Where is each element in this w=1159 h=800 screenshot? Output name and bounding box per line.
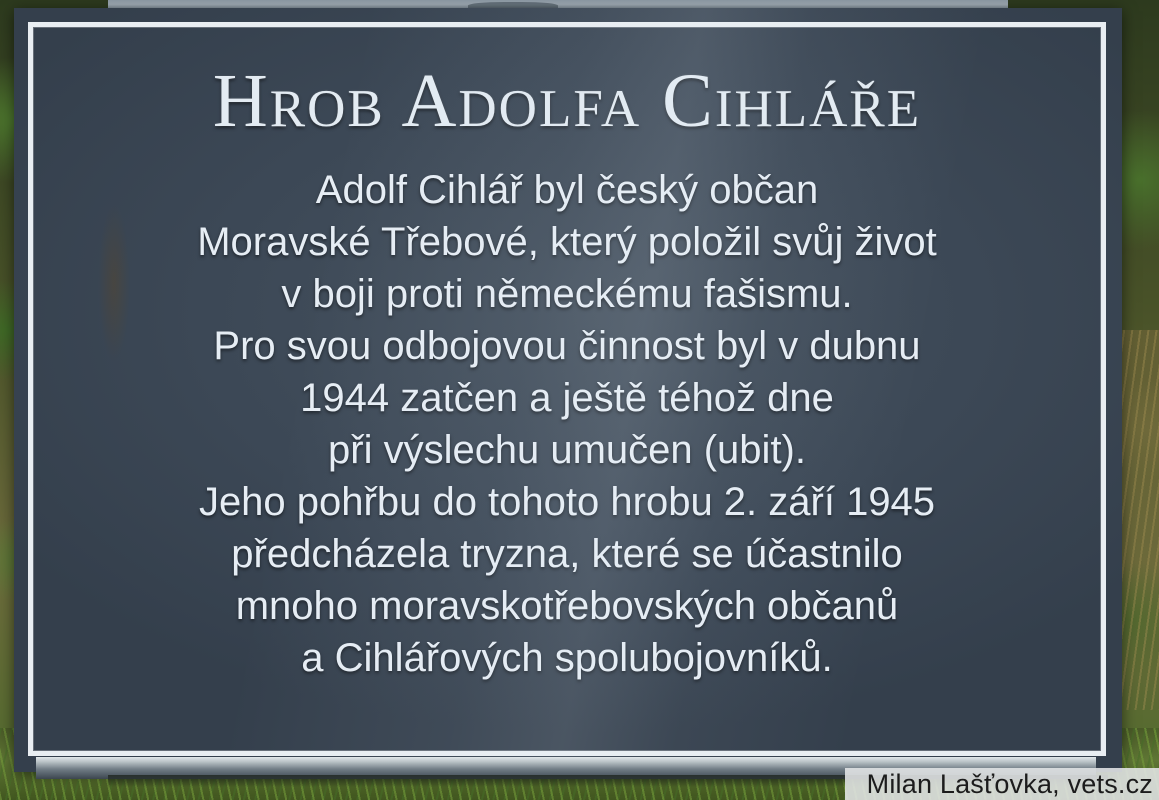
photo-scene: Hrob Adolfa Cihláře Adolf Cihlář byl čes…	[0, 0, 1159, 800]
photographer-credit-bar: Milan Lašťovka, vets.cz	[845, 768, 1159, 800]
plaque-body-line: Jeho pohřbu do tohoto hrobu 2. září 1945	[199, 476, 935, 528]
plaque-title: Hrob Adolfa Cihláře	[213, 64, 921, 138]
plaque-body-line: při výslechu umučen (ubit).	[328, 424, 806, 476]
photographer-credit-text: Milan Lašťovka, vets.cz	[867, 769, 1153, 800]
plaque-body-line: Adolf Cihlář byl český občan	[316, 164, 818, 216]
plaque-body-line: předcházela tryzna, které se účastnilo	[231, 528, 902, 580]
plaque-body-line: mnoho moravskotřebovských občanů	[236, 580, 899, 632]
plaque-inscription: Hrob Adolfa Cihláře Adolf Cihlář byl čes…	[48, 42, 1086, 734]
plaque-body-line: 1944 zatčen a ještě téhož dne	[300, 372, 834, 424]
memorial-plaque: Hrob Adolfa Cihláře Adolf Cihlář byl čes…	[14, 8, 1122, 772]
plaque-body-line: Pro svou odbojovou činnost byl v dubnu	[213, 320, 920, 372]
plaque-body-line: a Cihlářových spolubojovníků.	[301, 632, 832, 684]
plaque-body-line: v boji proti německému fašismu.	[281, 268, 852, 320]
plaque-body-text: Adolf Cihlář byl český občan Moravské Tř…	[197, 164, 937, 684]
plaque-body-line: Moravské Třebové, který položil svůj živ…	[197, 216, 937, 268]
